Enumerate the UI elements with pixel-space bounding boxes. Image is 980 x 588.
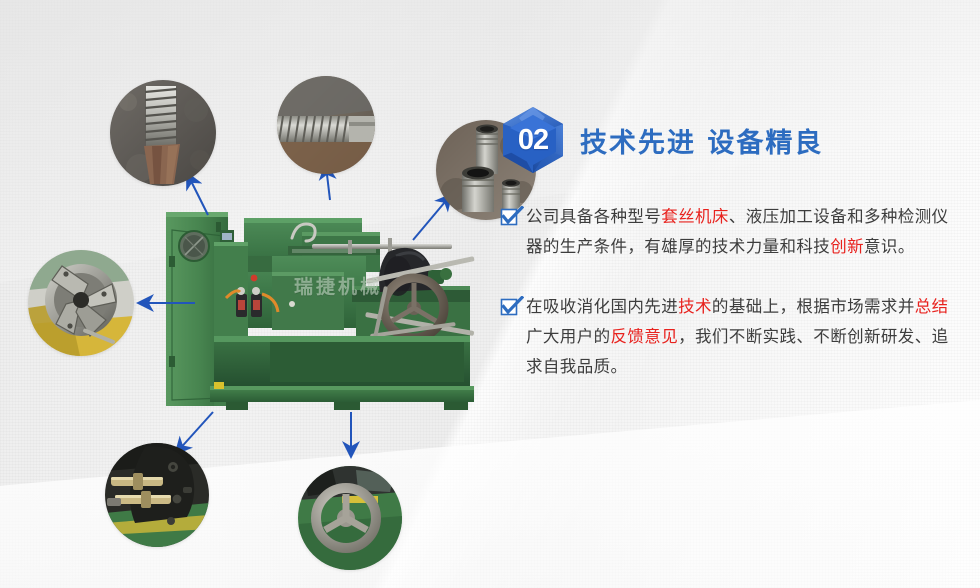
machine-watermark: 瑞捷机械 — [294, 272, 382, 299]
callout-threaded-bar — [277, 76, 375, 174]
highlighted-text: 套丝机床 — [661, 207, 729, 226]
body-text: 在吸收消化国内先进 — [526, 297, 678, 316]
checkbox-checked-icon — [500, 296, 522, 318]
body-text: 的基础上，根据市场需求并 — [712, 297, 915, 316]
checkbox-checked-icon — [500, 206, 522, 228]
highlighted-text: 技术 — [678, 297, 712, 316]
promo-banner: 瑞捷机械 — [0, 0, 980, 588]
highlighted-text: 反馈意见 — [611, 327, 679, 346]
body-text: 意识。 — [864, 237, 915, 256]
number-badge: 02 — [500, 105, 566, 175]
body-text: 广大用户的 — [526, 327, 611, 346]
body-text: 公司具备各种型号 — [526, 207, 661, 226]
callout-handwheel — [298, 466, 402, 570]
callout-threaded-rebar — [110, 80, 216, 186]
bullet-item: 在吸收消化国内先进技术的基础上，根据市场需求并总结广大用户的反馈意见，我们不断实… — [500, 292, 970, 382]
bullet-item: 公司具备各种型号套丝机床、液压加工设备和多种检测仪器的生产条件，有雄厚的技术力量… — [500, 202, 970, 262]
highlighted-text: 创新 — [830, 237, 864, 256]
bullet-text-2: 在吸收消化国内先进技术的基础上，根据市场需求并总结广大用户的反馈意见，我们不断实… — [526, 292, 958, 382]
section-title: 技术先进 设备精良 — [580, 121, 823, 160]
thread-rolling-machine-photo: 瑞捷机械 — [152, 186, 500, 422]
section-header: 02 技术先进 设备精良 — [500, 104, 970, 176]
highlighted-text: 总结 — [915, 297, 949, 316]
callout-hydraulic-fittings — [105, 443, 209, 547]
badge-number: 02 — [500, 105, 566, 175]
callout-die-head — [28, 250, 134, 356]
bullet-text-1: 公司具备各种型号套丝机床、液压加工设备和多种检测仪器的生产条件，有雄厚的技术力量… — [526, 202, 958, 262]
content-column: 02 技术先进 设备精良 公司具备各种型号套丝机床、液压加工设备和多种检测仪器的… — [500, 104, 970, 382]
